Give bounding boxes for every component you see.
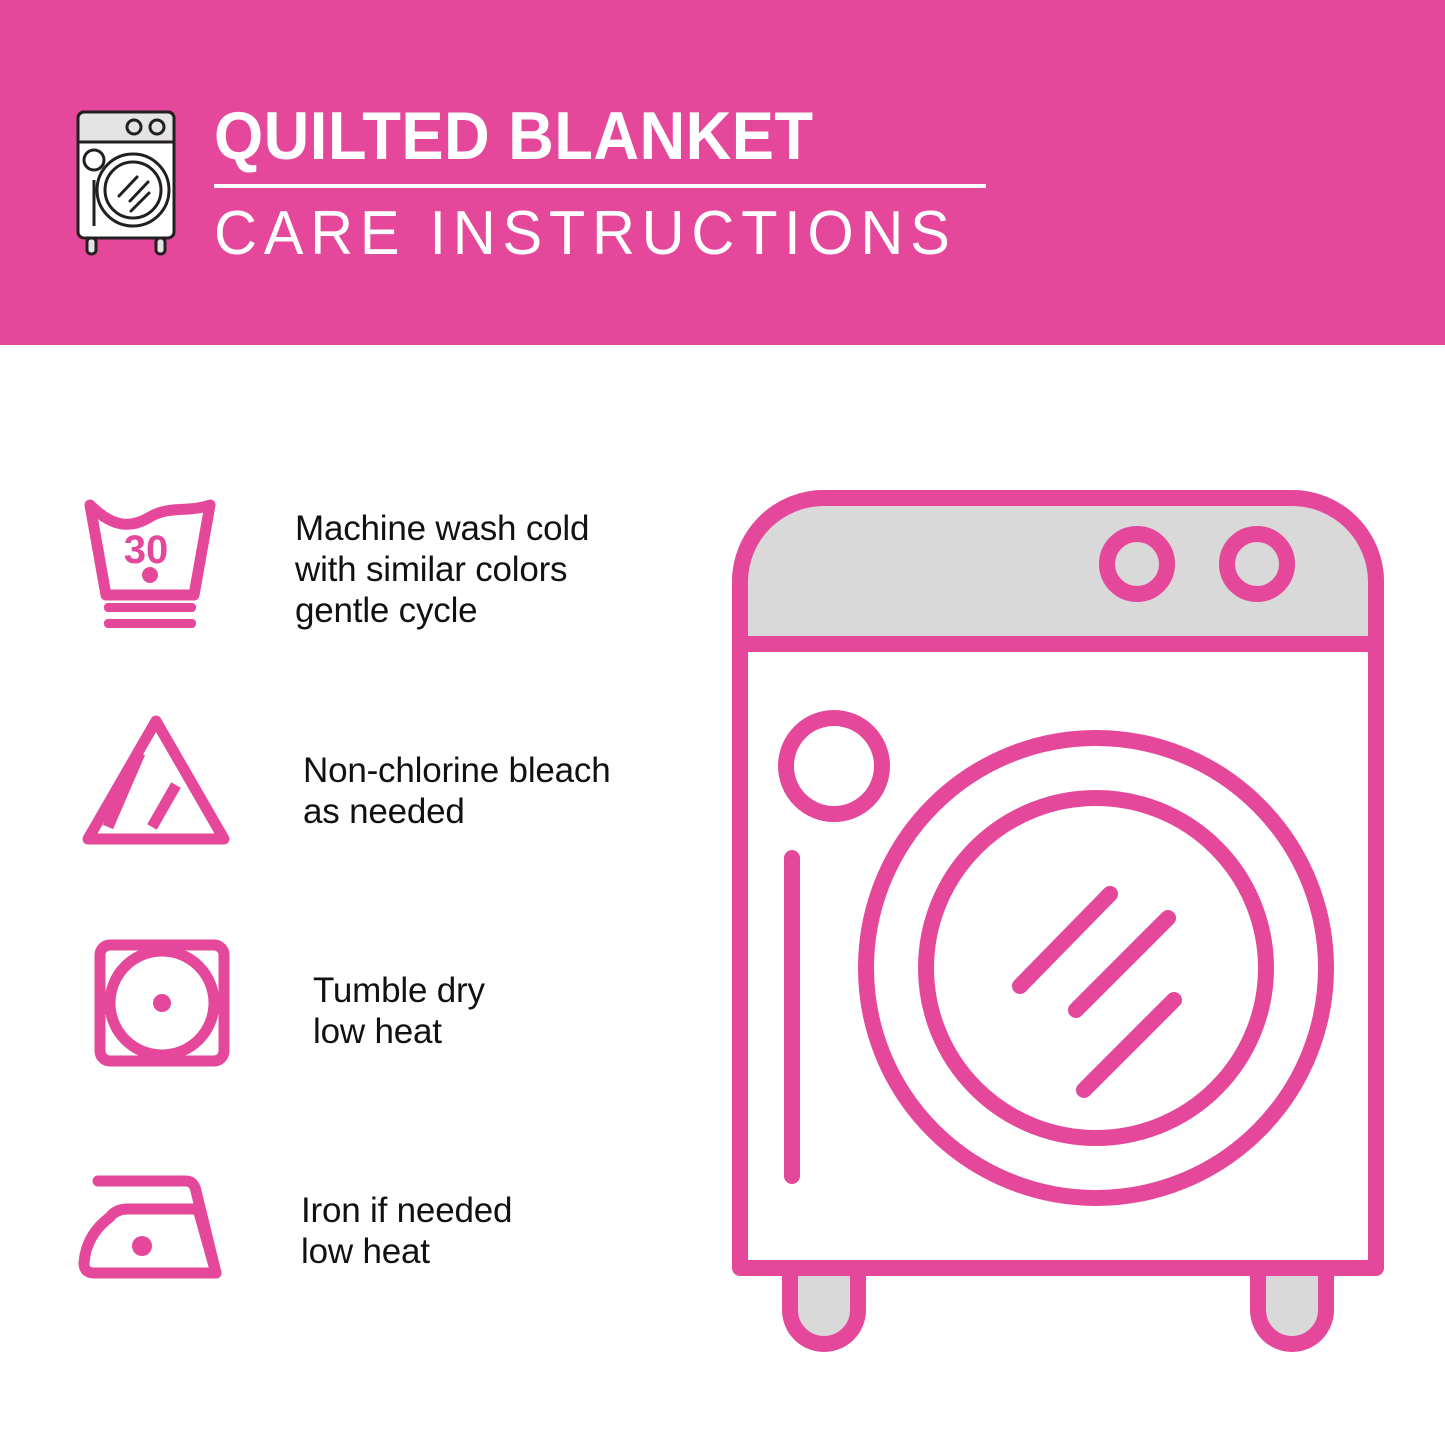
care-text-line: low heat — [313, 1011, 690, 1052]
care-text-bleach: Non-chlorine bleach as needed — [303, 700, 690, 832]
care-text-machine-wash: Machine wash cold with similar colors ge… — [295, 478, 690, 631]
bleach-triangle-icon — [70, 700, 238, 860]
header-title-group: QUILTED BLANKET CARE INSTRUCTIONS — [214, 98, 987, 268]
care-text-line: as needed — [303, 791, 690, 832]
svg-text:30: 30 — [124, 528, 169, 572]
care-instruction-list: 30 Machine wash cold with similar colors… — [70, 478, 690, 1366]
care-text-line: Non-chlorine bleach — [303, 750, 690, 791]
care-text-iron: Iron if needed low heat — [301, 1144, 690, 1272]
iron-icon — [70, 1144, 236, 1304]
care-row-machine-wash: 30 Machine wash cold with similar colors… — [70, 478, 690, 700]
care-row-iron: Iron if needed low heat — [70, 1144, 690, 1366]
care-instructions-page: QUILTED BLANKET CARE INSTRUCTIONS 30 — [0, 0, 1445, 1445]
title-divider — [214, 184, 986, 188]
wash-tub-icon: 30 — [70, 478, 230, 638]
care-row-tumble-dry: Tumble dry low heat — [70, 922, 690, 1144]
care-row-bleach: Non-chlorine bleach as needed — [70, 700, 690, 922]
header-content: QUILTED BLANKET CARE INSTRUCTIONS — [60, 96, 987, 268]
care-text-line: Iron if needed — [301, 1190, 690, 1231]
care-text-line: Machine wash cold — [295, 508, 690, 549]
page-title: QUILTED BLANKET — [214, 98, 933, 174]
care-text-line: with similar colors — [295, 549, 690, 590]
care-text-line: low heat — [301, 1231, 690, 1272]
washing-machine-icon — [60, 98, 192, 258]
washing-machine-illustration — [728, 486, 1388, 1356]
tumble-dry-icon — [70, 922, 248, 1082]
care-text-line: Tumble dry — [313, 970, 690, 1011]
header-band: QUILTED BLANKET CARE INSTRUCTIONS — [0, 0, 1445, 345]
page-subtitle: CARE INSTRUCTIONS — [214, 200, 957, 268]
care-text-tumble-dry: Tumble dry low heat — [313, 922, 690, 1052]
care-text-line: gentle cycle — [295, 590, 690, 631]
